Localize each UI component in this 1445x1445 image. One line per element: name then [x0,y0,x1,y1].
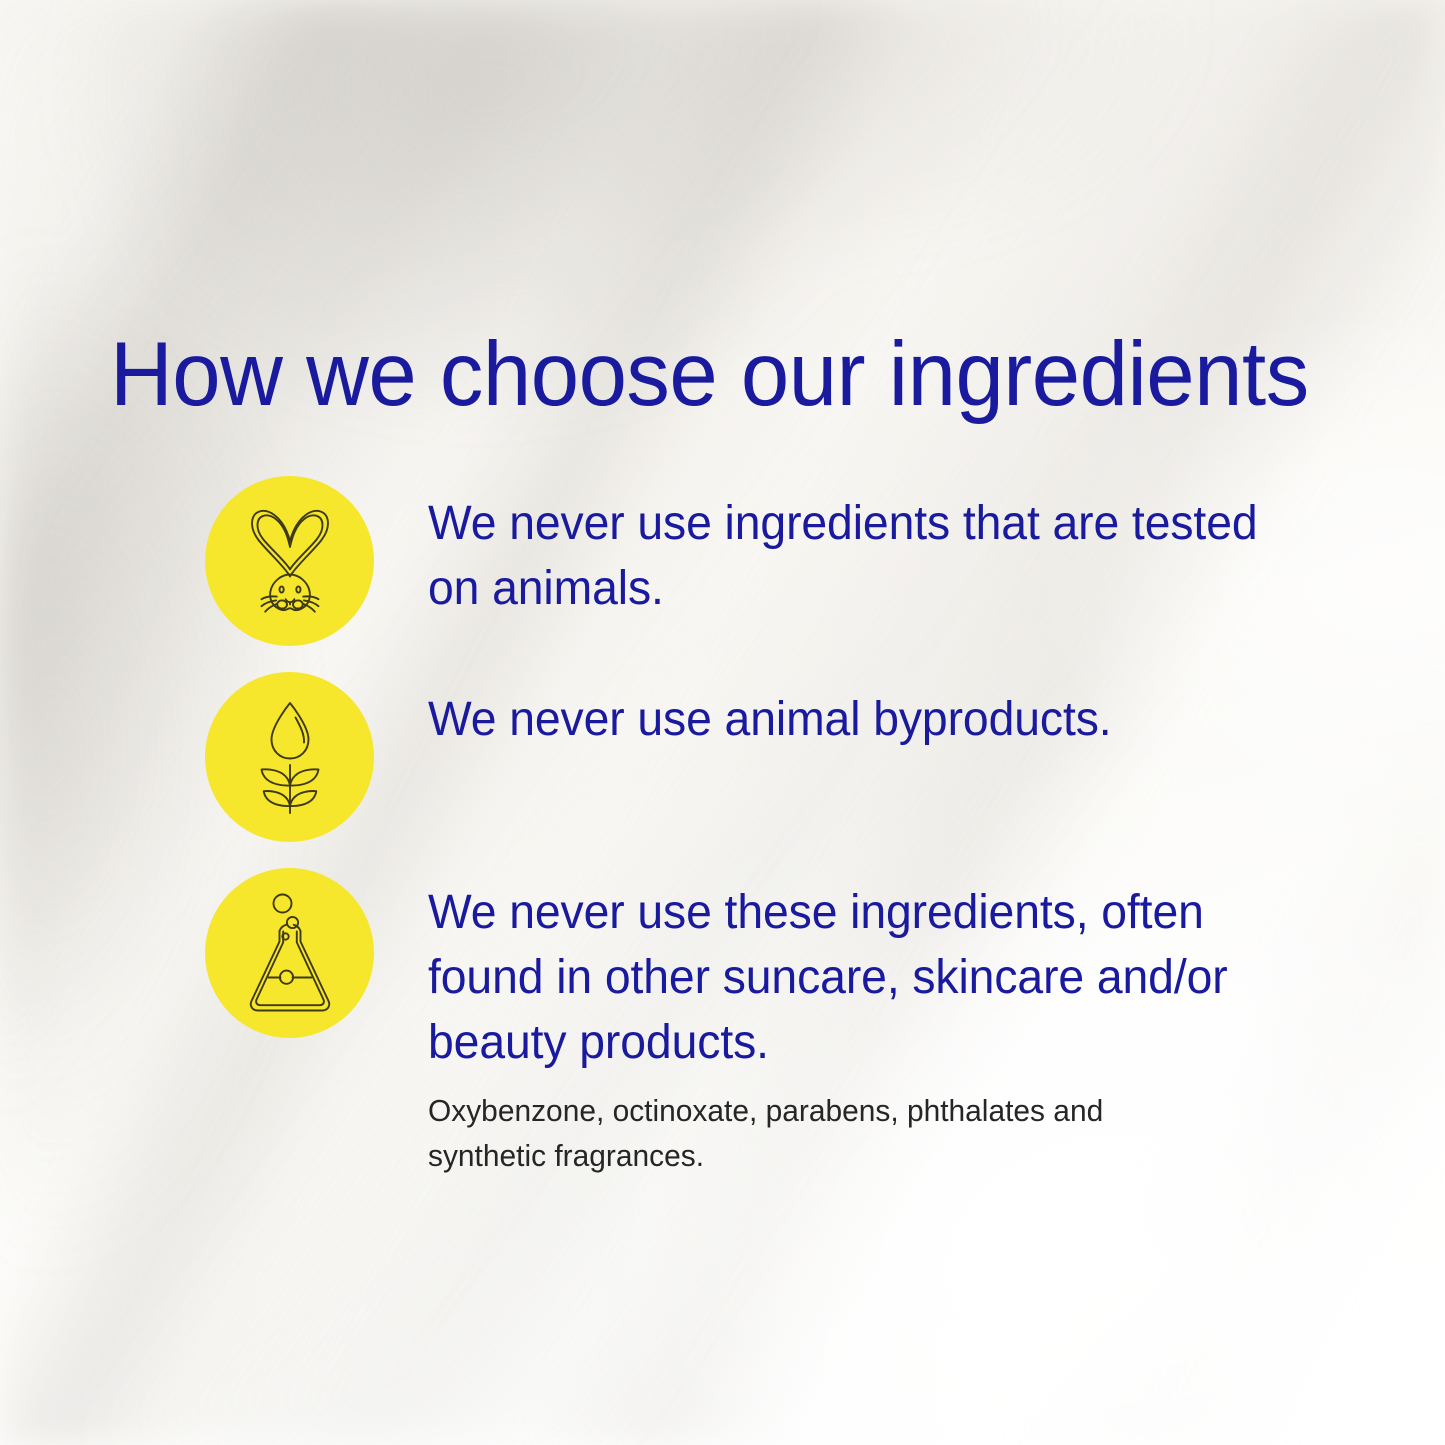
page-title: How we choose our ingredients [110,329,1309,420]
claims-list: We never use ingredients that are tested… [0,476,1445,1128]
claim-subtext: Oxybenzone, octinoxate, parabens, phthal… [428,1089,1190,1179]
list-item: We never use animal byproducts. [0,672,1445,868]
ingredients-info-card: How we choose our ingredients [0,0,1445,1445]
list-item: We never use ingredients that are tested… [0,476,1445,672]
plant-droplet-icon [205,672,374,842]
list-item: We never use these ingredients, often fo… [0,868,1445,1128]
claim-text-block: We never use these ingredients, often fo… [374,868,1445,1179]
claim-headline: We never use ingredients that are tested… [428,492,1277,622]
bunny-heart-ears-icon [205,476,374,646]
claim-headline: We never use animal byproducts. [428,688,1297,753]
claim-headline: We never use these ingredients, often fo… [428,881,1277,1075]
erlenmeyer-flask-icon [205,868,374,1038]
claim-text-block: We never use animal byproducts. [374,672,1445,753]
claim-text-block: We never use ingredients that are tested… [374,476,1445,622]
